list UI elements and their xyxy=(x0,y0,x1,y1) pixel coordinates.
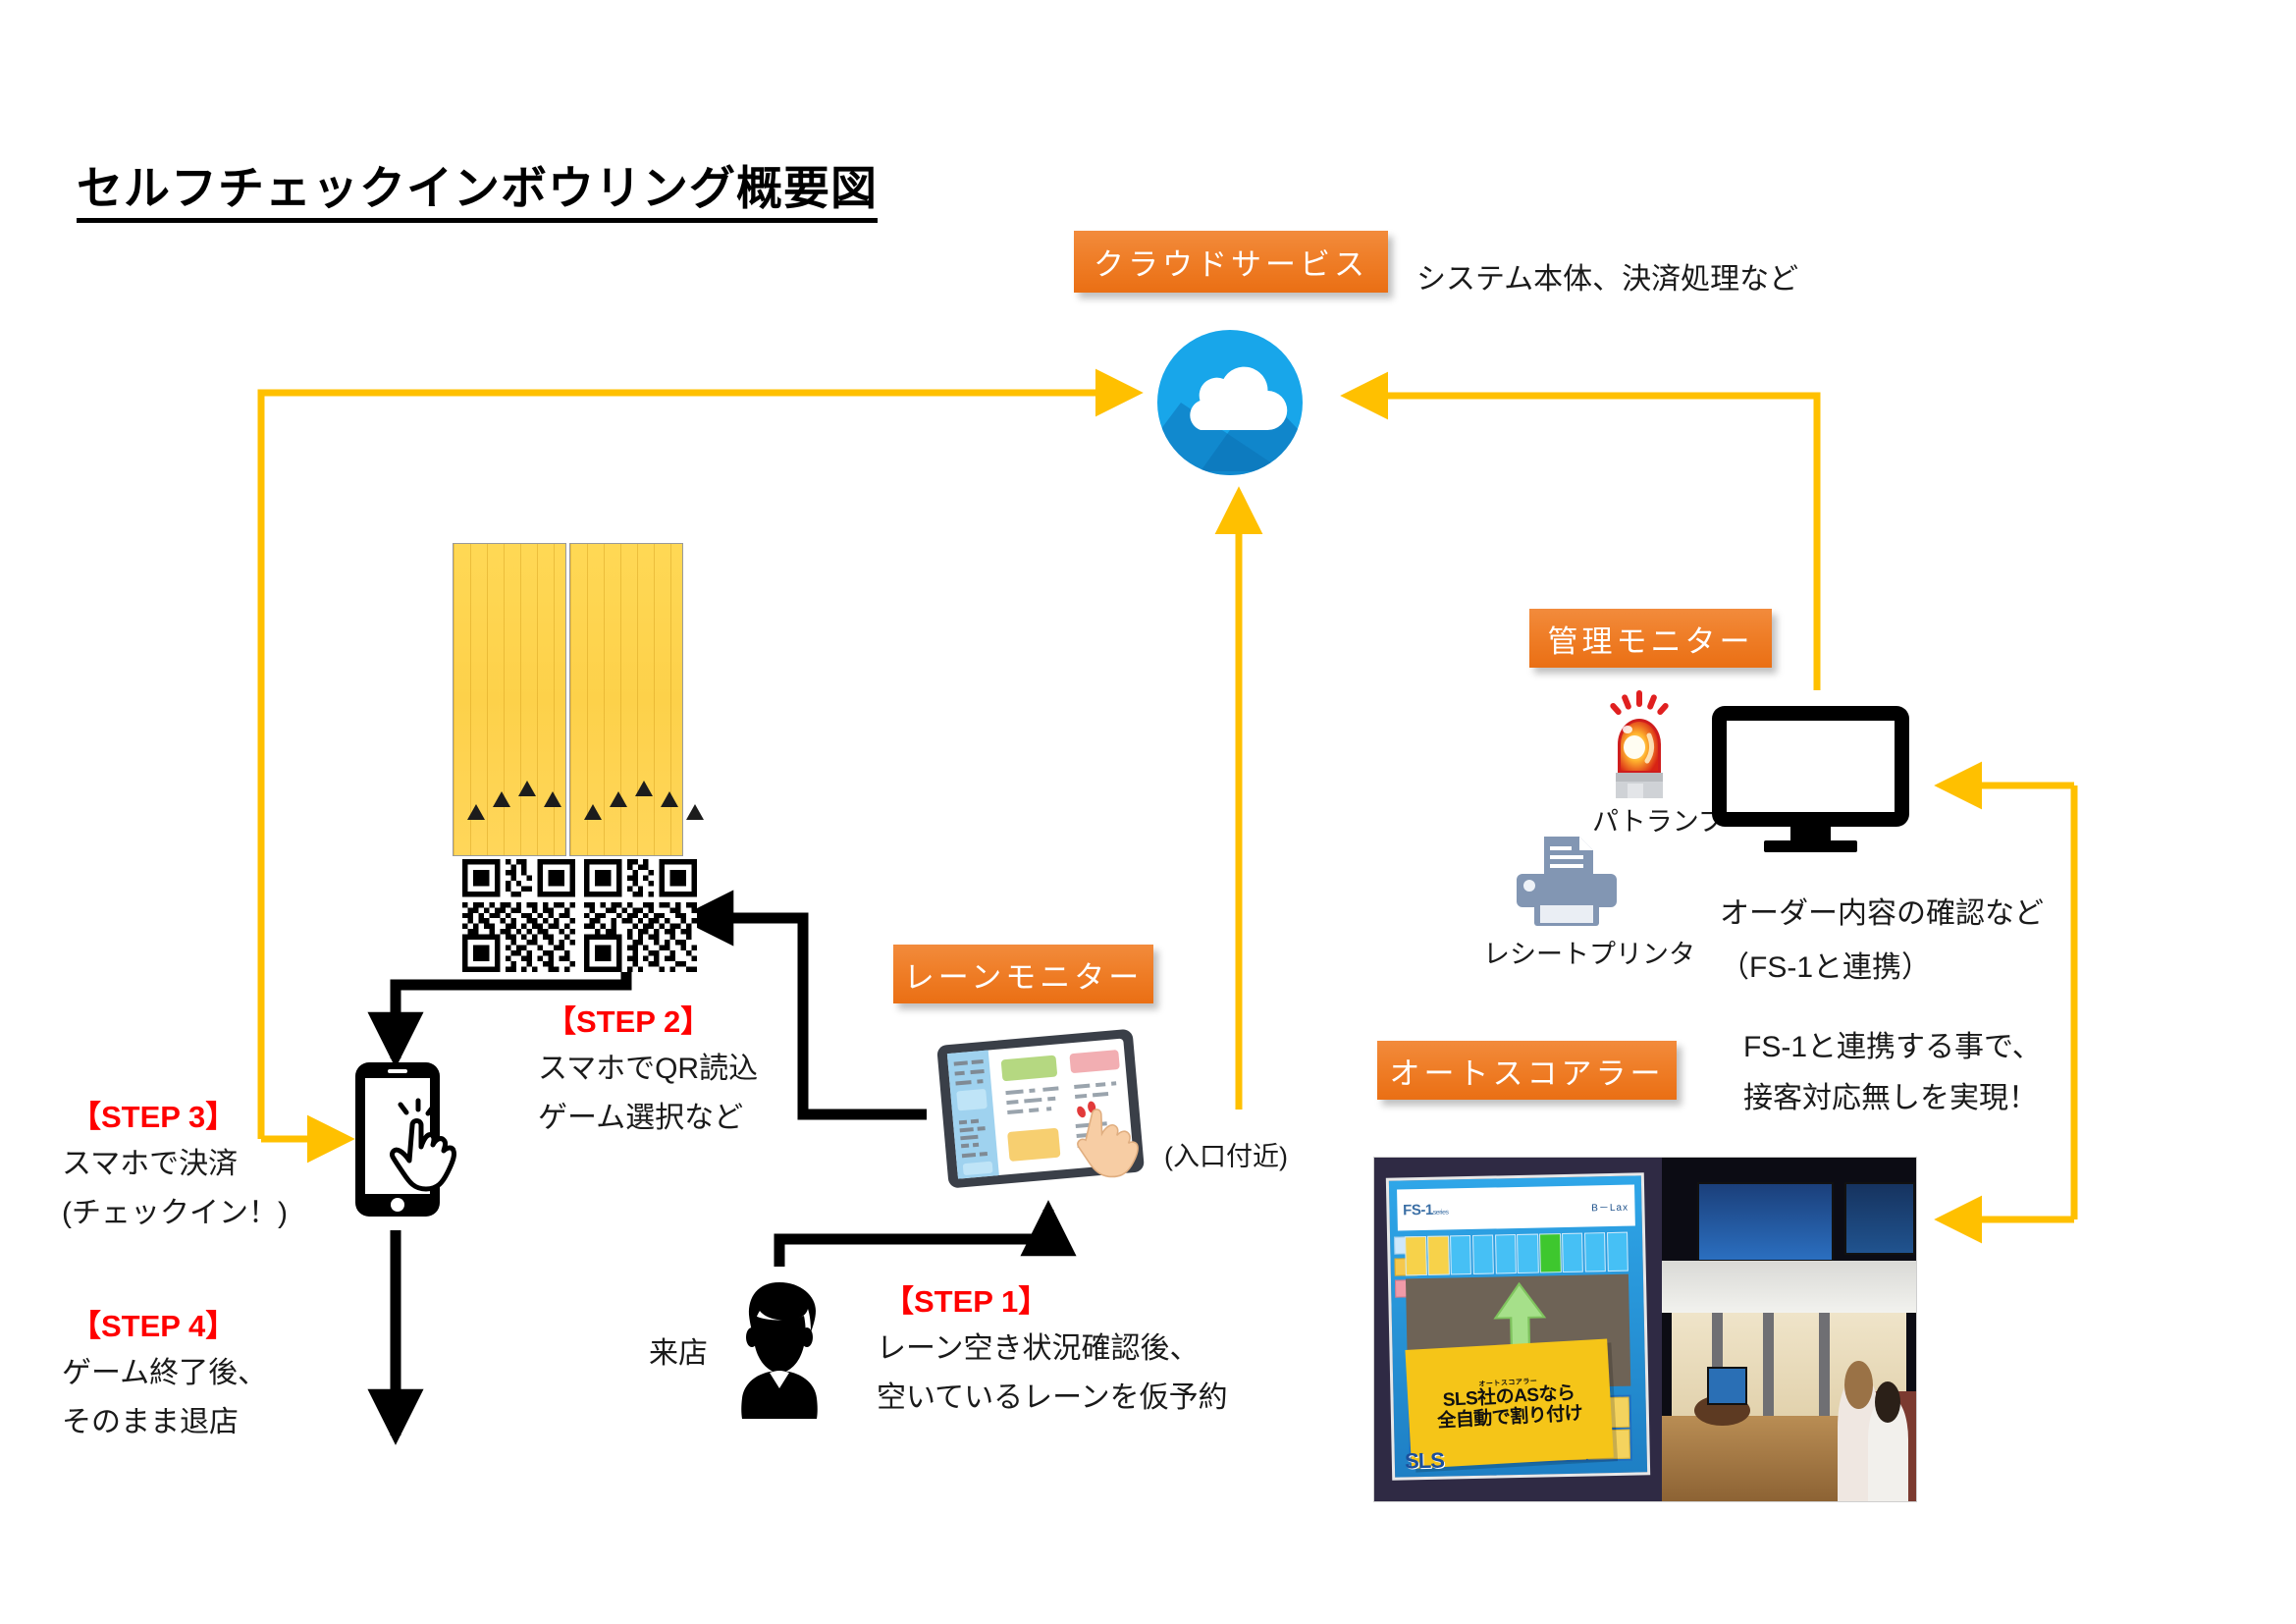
guest-person-head xyxy=(1844,1361,1873,1409)
cloud-note: システム本体、決済処理など xyxy=(1416,259,1798,301)
patrol-lamp-icon xyxy=(1604,690,1675,798)
autoscorer-note-2: 接客対応無しを実現！ xyxy=(1743,1078,2038,1120)
badge-lane-monitor: レーンモニター xyxy=(893,945,1153,1003)
fs1-frame-row xyxy=(1405,1232,1628,1275)
monitor-icon xyxy=(1710,704,1911,853)
autoscorer-bowling-photo: FS-1series B－Lax xyxy=(1373,1157,1917,1502)
printer-label: レシートプリンタ xyxy=(1483,936,1695,973)
step4-line2: そのまま退店 xyxy=(62,1402,239,1444)
guest-person-head xyxy=(1875,1381,1900,1423)
photo-scoring-screen: FS-1series B－Lax xyxy=(1374,1158,1662,1501)
photo-bowling-lanes xyxy=(1662,1158,1916,1501)
step3-label: 【STEP 3】 xyxy=(71,1092,236,1136)
lane-pin-markers xyxy=(454,775,565,818)
badge-admin-monitor: 管理モニター xyxy=(1529,609,1772,668)
diagram-canvas: セルフチェックインボウリング概要図 xyxy=(0,0,2296,1624)
step2-line1: スマホでQR読込 xyxy=(538,1049,758,1091)
step1-line2: 空いているレーンを仮予約 xyxy=(877,1378,1228,1420)
fs1-screen: FS-1series B－Lax xyxy=(1385,1172,1650,1480)
step1-label: 【STEP 1】 xyxy=(883,1276,1048,1321)
fs1-logo-main: FS-1 xyxy=(1403,1201,1433,1218)
pin-deck-wall xyxy=(1662,1261,1916,1313)
step3-line1: スマホで決済 xyxy=(62,1144,238,1186)
arrow-customer-to-lanemonitor xyxy=(779,1210,1048,1267)
qr-code-icon xyxy=(462,859,575,977)
step3-line2: (チェックイン！) xyxy=(62,1193,288,1235)
qr-code-icon xyxy=(584,859,697,977)
smartphone-tap-icon xyxy=(351,1058,479,1220)
step1-line1: レーン空き状況確認後、 xyxy=(877,1328,1200,1371)
bowling-lanes-icon xyxy=(453,543,683,856)
lane-monitor-note: (入口付近) xyxy=(1164,1138,1288,1175)
page-title: セルフチェックインボウリング概要図 xyxy=(77,163,878,223)
bowling-lane xyxy=(453,543,566,856)
lane-gutter xyxy=(1763,1313,1773,1416)
cloud-icon xyxy=(1142,324,1318,481)
fs1-screen-title: B－Lax xyxy=(1591,1198,1629,1214)
table-tablet xyxy=(1707,1367,1746,1405)
autoscorer-note-1: FS-1と連携する事で、 xyxy=(1743,1027,2042,1069)
lane-surface xyxy=(1774,1313,1820,1416)
step4-line1: ゲーム終了後、 xyxy=(62,1353,267,1395)
sls-brand-logo: SLS xyxy=(1404,1447,1443,1474)
step4-label: 【STEP 4】 xyxy=(71,1301,236,1345)
person-icon xyxy=(726,1276,832,1419)
step2-line2: ゲーム選択など xyxy=(538,1098,743,1140)
overhead-display-secondary xyxy=(1844,1182,1914,1255)
badge-cloud-service: クラウドサービス xyxy=(1074,231,1388,293)
receipt-printer-icon xyxy=(1513,835,1621,928)
fs1-logo-sub: series xyxy=(1432,1209,1448,1216)
admin-monitor-note-2: （FS-1と連携） xyxy=(1720,947,1931,990)
customer-label: 来店 xyxy=(649,1333,708,1376)
lane-pin-markers xyxy=(570,775,682,818)
fs1-screen-header: FS-1series B－Lax xyxy=(1396,1184,1634,1230)
arrow-bus-right xyxy=(1944,785,2074,1219)
badge-autoscorer: オートスコアラー xyxy=(1377,1041,1677,1100)
admin-monitor-note-1: オーダー内容の確認など xyxy=(1720,893,2044,936)
lane-gutter xyxy=(1819,1313,1829,1416)
tablet-icon xyxy=(927,1027,1157,1189)
step2-label: 【STEP 2】 xyxy=(546,997,711,1041)
overhead-display xyxy=(1697,1182,1834,1262)
bowling-lane xyxy=(569,543,683,856)
fs1-logo: FS-1series xyxy=(1403,1201,1449,1218)
